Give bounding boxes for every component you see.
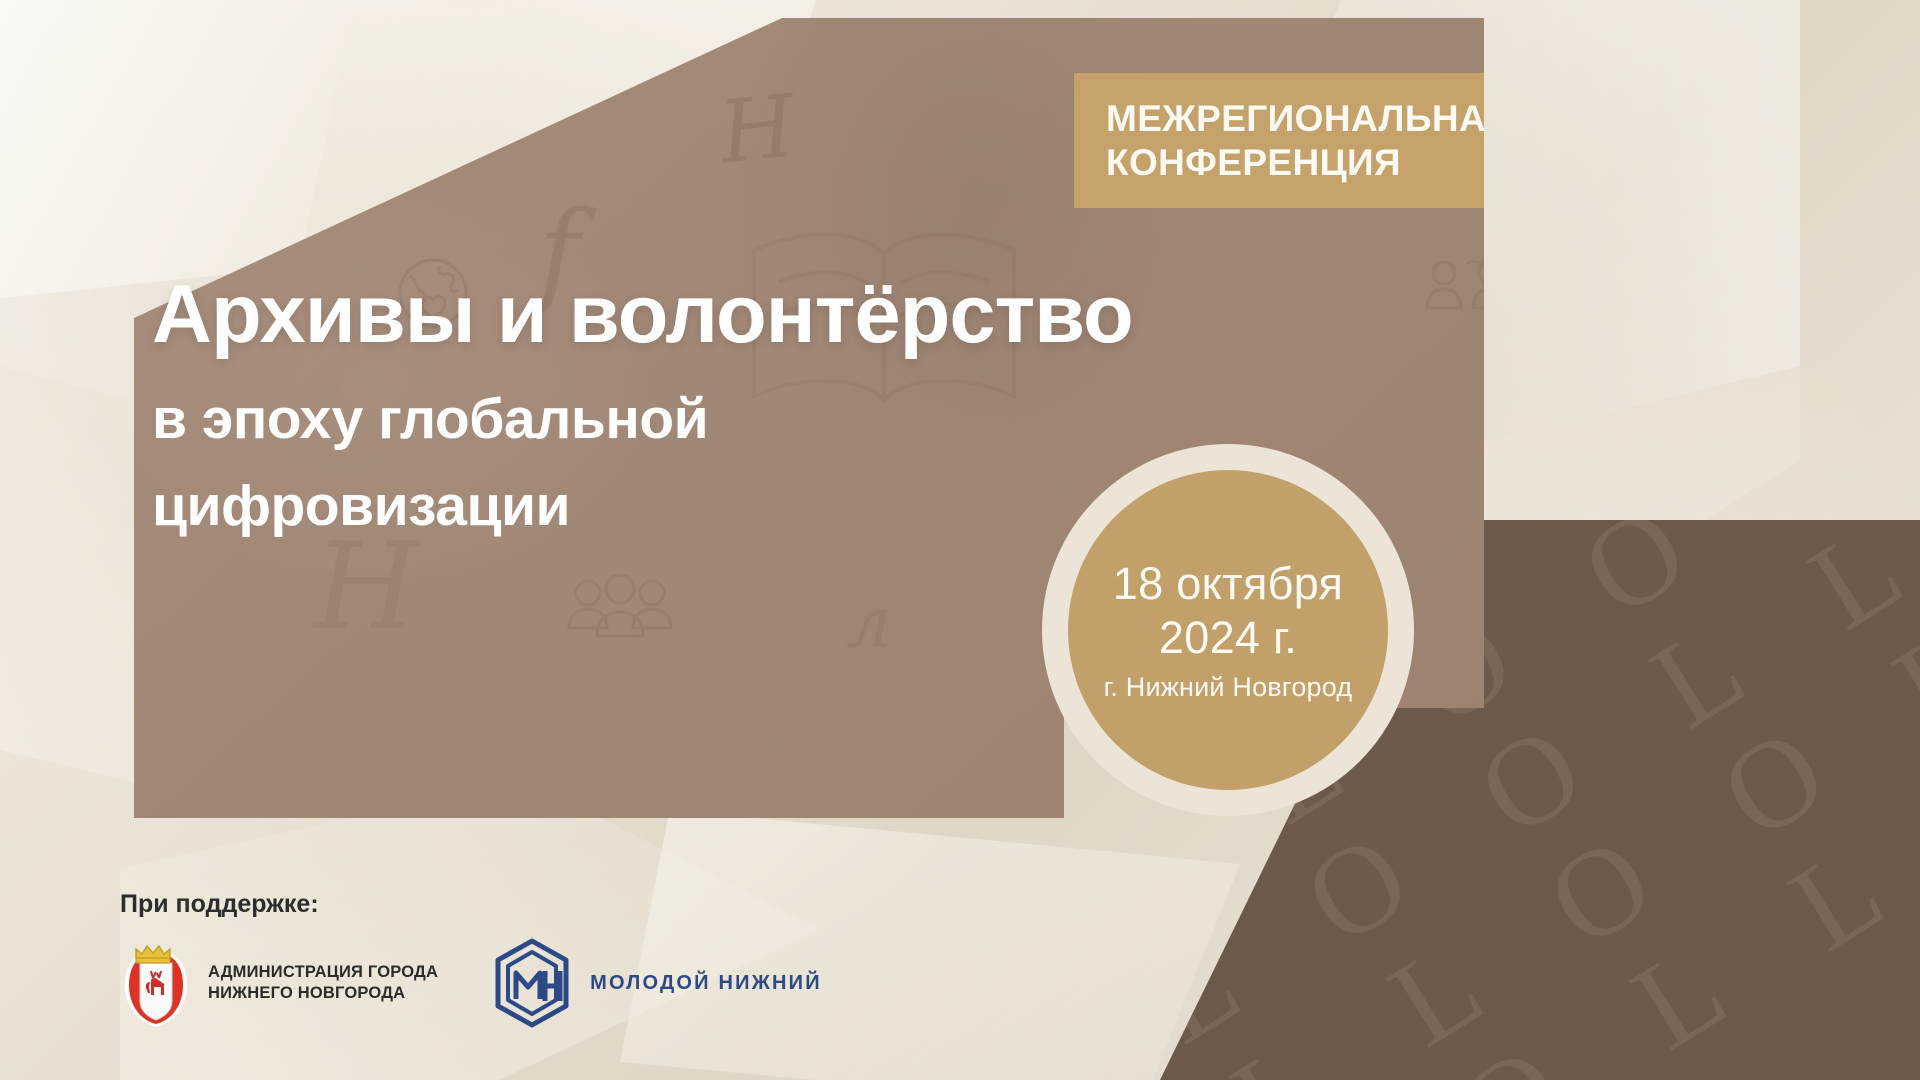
event-city: г. Нижний Новгород [1104,672,1353,703]
partner-molodoy-nizhniy: МОЛОДОЙ НИЖНИЙ [490,937,822,1029]
page-title: Архивы и волонтёрство [152,272,1412,357]
badge-line-1: МЕЖРЕГИОНАЛЬНАЯ [1106,97,1513,141]
support-block: При поддержке: [120,890,822,1029]
molodoy-nizhniy-logo-text: МОЛОДОЙ НИЖНИЙ [590,972,822,995]
event-year: 2024 г. [1159,611,1297,664]
nizhny-novgorod-coat-of-arms-icon [120,937,192,1029]
conference-poster: O L L O O O L L O O L L L O O L L O O L … [0,0,1920,1080]
badge-line-2: КОНФЕРЕНЦИЯ [1106,141,1513,185]
support-label: При поддержке: [120,890,822,919]
administration-line-1: АДМИНИСТРАЦИЯ ГОРОДА [208,962,438,983]
conference-type-badge: МЕЖРЕГИОНАЛЬНАЯ КОНФЕРЕНЦИЯ [1074,73,1614,208]
date-badge: 18 октября 2024 г. г. Нижний Новгород [1068,470,1388,790]
event-day: 18 октября [1113,557,1343,610]
molodoy-nizhniy-hex-icon [490,937,574,1029]
badge-text: МЕЖРЕГИОНАЛЬНАЯ КОНФЕРЕНЦИЯ [1074,97,1513,184]
partner-administration: АДМИНИСТРАЦИЯ ГОРОДА НИЖНЕГО НОВГОРОДА [120,937,438,1029]
partner-logos: АДМИНИСТРАЦИЯ ГОРОДА НИЖНЕГО НОВГОРОДА М… [120,937,822,1029]
administration-logo-text: АДМИНИСТРАЦИЯ ГОРОДА НИЖНЕГО НОВГОРОДА [208,962,438,1004]
administration-line-2: НИЖНЕГО НОВГОРОДА [208,983,438,1004]
